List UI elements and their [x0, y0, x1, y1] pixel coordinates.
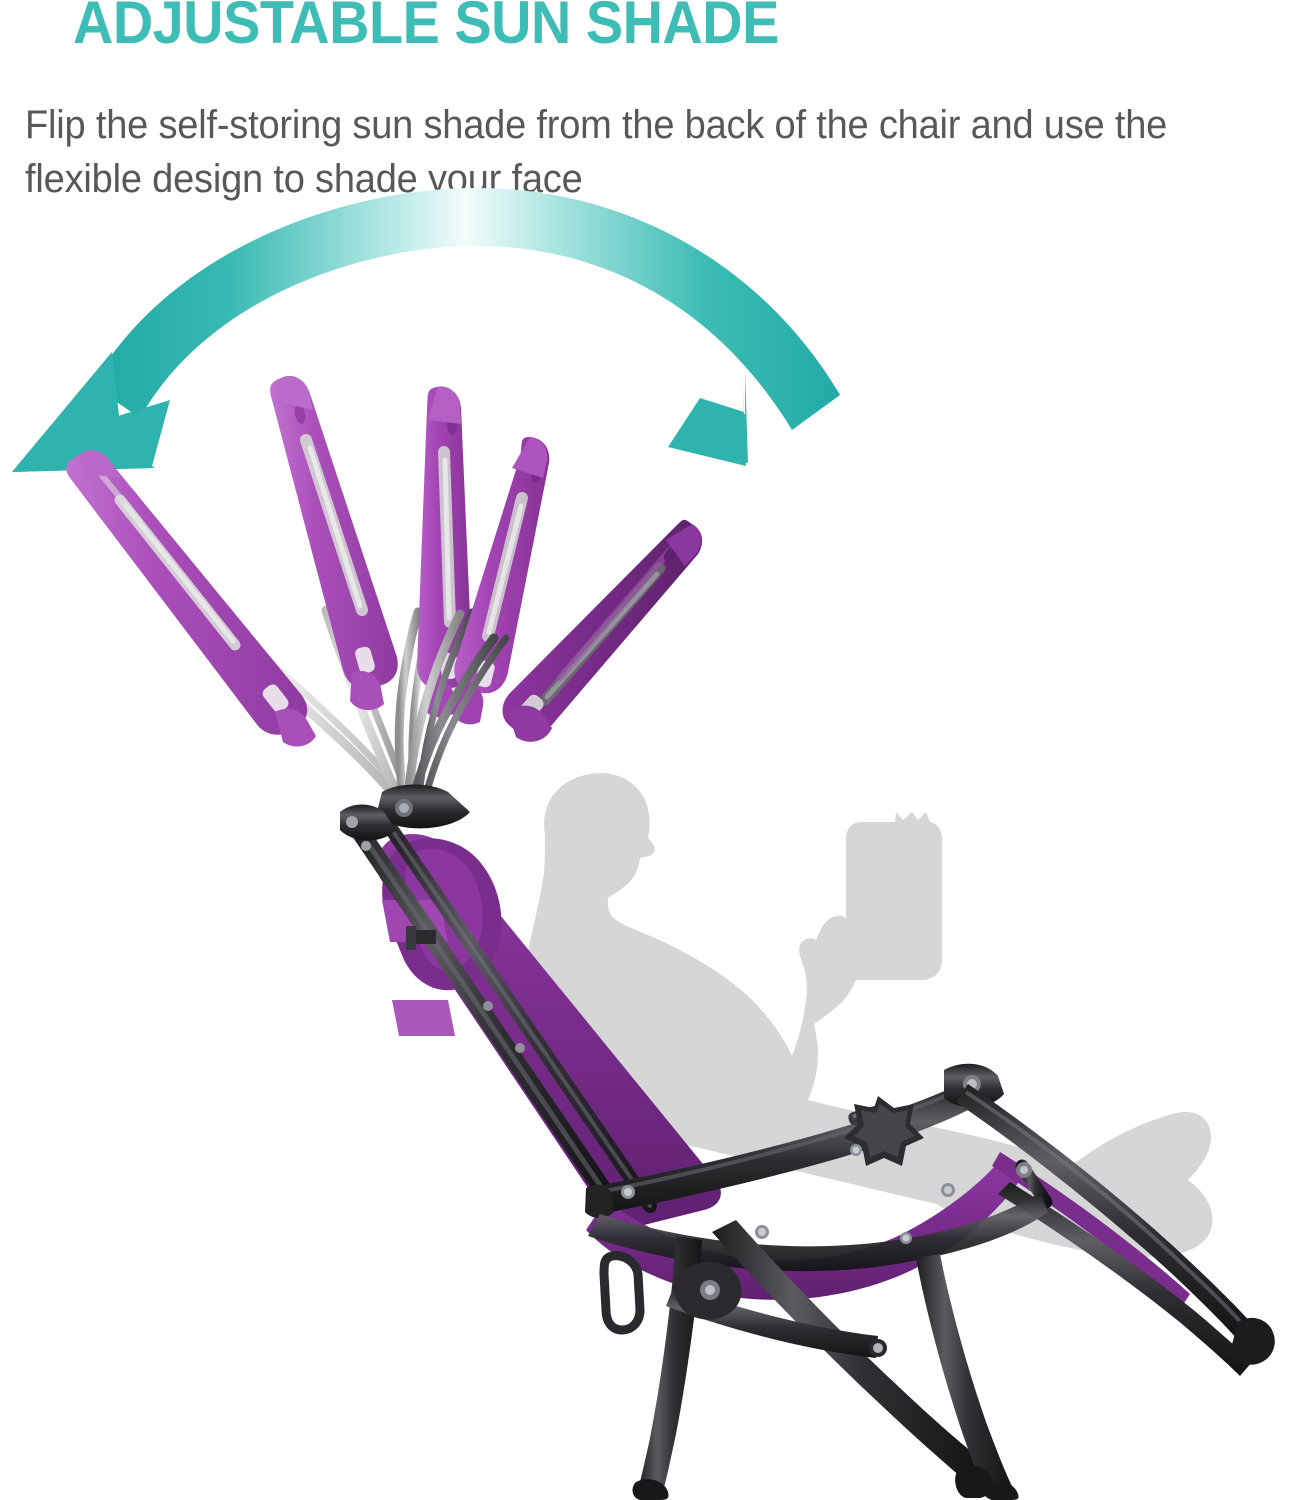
- product-feature-image: ADJUSTABLE SUN SHADE Flip the self-stori…: [0, 0, 1300, 1500]
- curved-double-arrow-icon: [12, 188, 840, 472]
- product-illustration: [0, 0, 1300, 1500]
- sun-shade-canopy-group: [66, 376, 702, 829]
